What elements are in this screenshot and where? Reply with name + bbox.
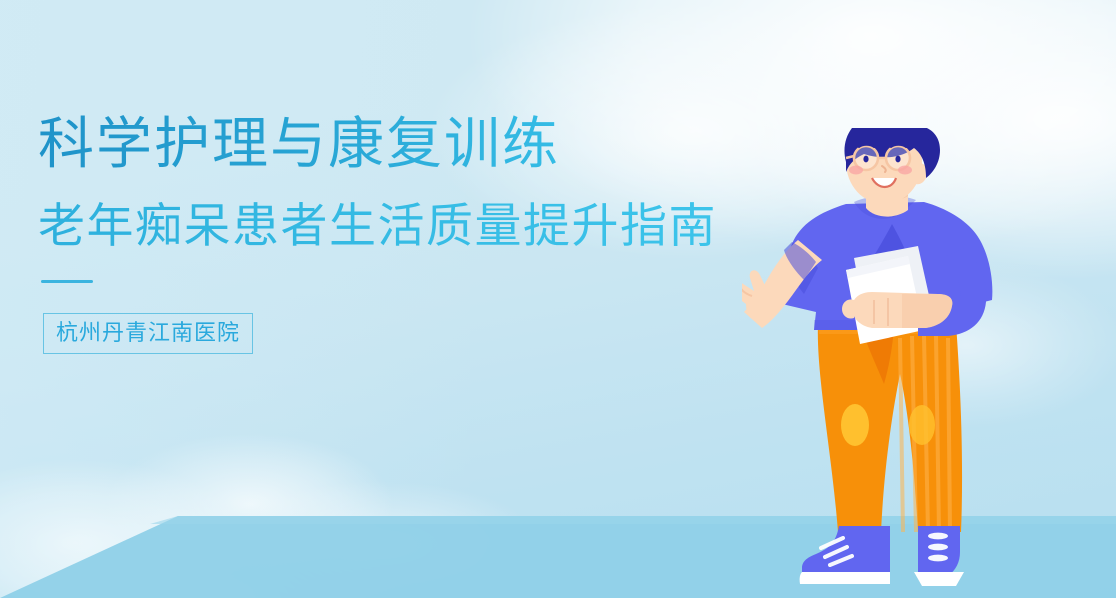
eye-left-icon xyxy=(863,156,868,163)
shoes-group xyxy=(800,526,964,586)
eye-right-icon xyxy=(895,156,900,163)
title-divider xyxy=(41,280,93,283)
knee-patch-right-icon xyxy=(909,405,935,445)
man-presenting-illustration xyxy=(742,128,1042,598)
knee-patch-left-icon xyxy=(841,404,869,446)
blush-right-icon xyxy=(898,166,912,175)
cloud-bottom-left-icon xyxy=(0,400,510,598)
blush-left-icon xyxy=(849,166,863,175)
banner-copy: 科学护理与康复训练 老年痴呆患者生活质量提升指南 杭州丹青江南医院 xyxy=(38,112,798,354)
head-group xyxy=(844,128,940,204)
pants-group xyxy=(818,324,962,532)
cloud-bottom-mid-icon xyxy=(140,455,620,598)
organization-badge: 杭州丹青江南医院 xyxy=(43,313,253,354)
hero-banner: 科学护理与康复训练 老年痴呆患者生活质量提升指南 杭州丹青江南医院 xyxy=(0,0,1116,598)
page-title: 科学护理与康复训练 xyxy=(38,112,798,176)
page-subtitle: 老年痴呆患者生活质量提升指南 xyxy=(38,198,798,253)
